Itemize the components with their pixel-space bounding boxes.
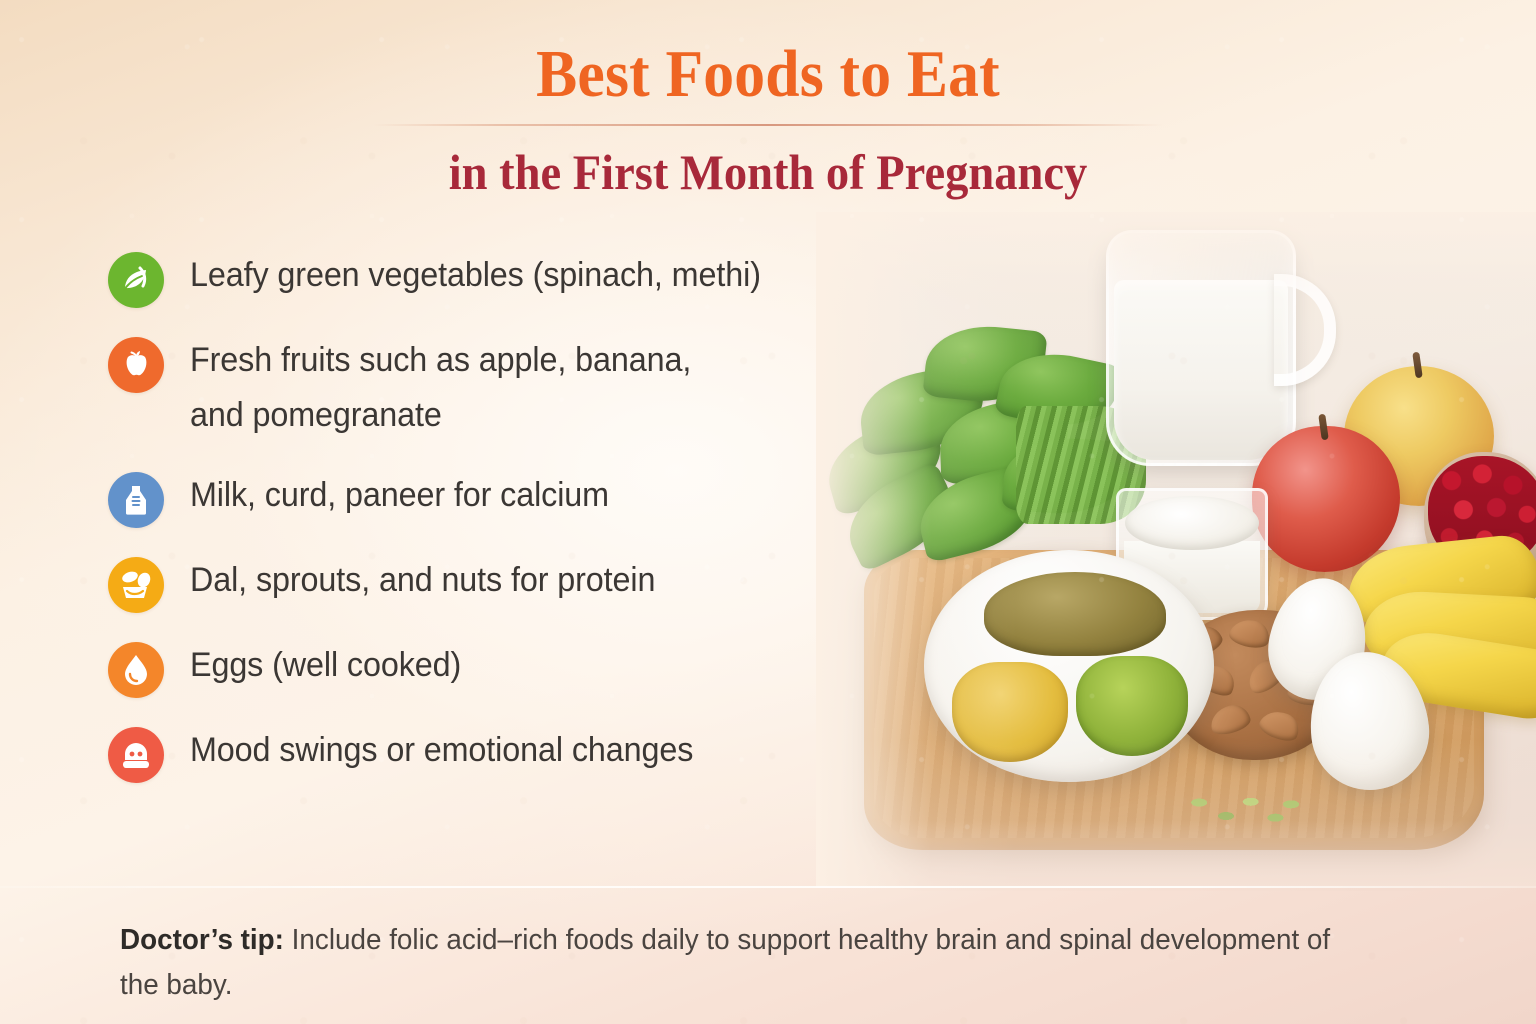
food-photo-scene [816,212,1536,888]
list-item-label: Mood swings or emotional changes [190,723,693,778]
list-item: Eggs (well cooked) [108,638,898,698]
header: Best Foods to Eat in the First Month of … [0,0,1536,200]
page-subtitle: in the First Month of Pregnancy [54,144,1482,200]
dish-compartment-dal [952,662,1068,762]
food-photo [816,212,1536,888]
list-item-label: Dal, sprouts, and nuts for protein [190,553,655,608]
list-item: Leafy green vegetables (spinach, methi) [108,248,898,308]
list-item-label: Leafy green vegetables (spinach, methi) [190,248,761,303]
milk-bottle-icon [108,472,164,528]
mood-face-icon [108,727,164,783]
dish-compartment-chana [984,572,1166,656]
milk-fill [1114,280,1288,460]
divided-dish [924,550,1214,782]
egg-drop-icon [108,642,164,698]
infographic-poster: Best Foods to Eat in the First Month of … [0,0,1536,1024]
list-item: Fresh fruits such as apple, banana, and … [108,333,898,443]
milk-jug [1106,230,1296,466]
doctors-tip-label: Doctor’s tip: [120,924,284,956]
list-item: Dal, sprouts, and nuts for protein [108,553,898,613]
doctors-tip-text: Include folic acid–rich foods daily to s… [120,924,1330,1001]
food-list: Leafy green vegetables (spinach, methi) … [108,248,898,783]
dish-compartment-sprouts [1076,656,1188,756]
leaf-icon [108,252,164,308]
list-item-label: Fresh fruits such as apple, banana, and … [190,333,691,443]
list-item-label: Milk, curd, paneer for calcium [190,468,609,523]
scattered-sprouts [1188,790,1300,832]
list-item: Mood swings or emotional changes [108,723,898,783]
yogurt-surface [1125,496,1259,550]
page-title: Best Foods to Eat [61,38,1474,110]
title-divider [373,124,1163,126]
list-item: Milk, curd, paneer for calcium [108,468,898,528]
red-apple [1252,426,1400,572]
footer-divider [0,886,1536,888]
doctors-tip: Doctor’s tip: Include folic acid–rich fo… [120,918,1368,1008]
nuts-bowl-icon [108,557,164,613]
apple-icon [108,337,164,393]
list-item-label: Eggs (well cooked) [190,638,461,693]
